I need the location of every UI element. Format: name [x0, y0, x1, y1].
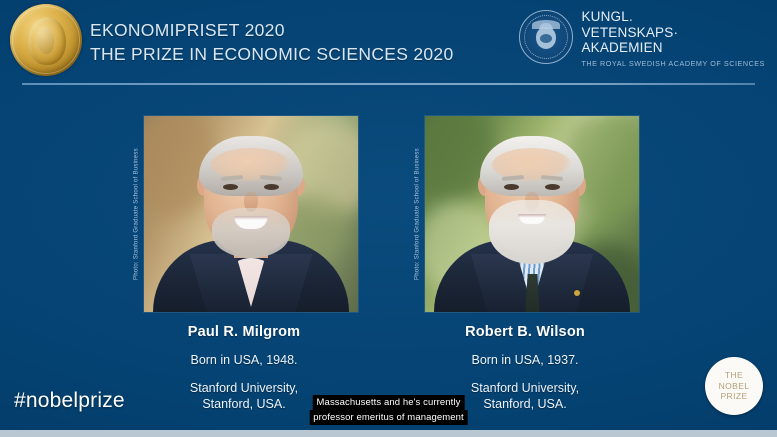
video-scrubber[interactable]	[0, 430, 777, 437]
laureate-card-milgrom: Photo: Stanford Graduate School of Busin…	[130, 116, 358, 412]
portrait-photo-wilson	[425, 116, 639, 312]
header-titles: EKONOMIPRISET 2020 THE PRIZE IN ECONOMIC…	[90, 18, 454, 66]
title-swedish: EKONOMIPRISET 2020	[90, 18, 454, 42]
lapel-pin	[574, 290, 580, 296]
nobel-medal-icon	[10, 4, 82, 76]
nobel-mark-line-1: THE	[725, 370, 743, 381]
nobel-mark-line-3: PRIZE	[720, 391, 747, 402]
laureate-info: Paul R. Milgrom Born in USA, 1948. Stanf…	[130, 312, 358, 412]
academy-logo: KUNGL. VETENSKAPS· AKADEMIEN THE ROYAL S…	[519, 8, 765, 68]
eye-right	[545, 184, 560, 190]
portrait-frame: Photo: Stanford Graduate School of Busin…	[411, 116, 639, 312]
seal-figure	[536, 27, 556, 49]
academy-line-1: KUNGL.	[581, 9, 765, 25]
hair	[199, 136, 303, 196]
academy-line-3: AKADEMIEN	[581, 40, 765, 56]
academy-wordmark: KUNGL. VETENSKAPS· AKADEMIEN THE ROYAL S…	[581, 8, 765, 68]
portrait-photo-milgrom	[144, 116, 358, 312]
portrait-frame: Photo: Stanford Graduate School of Busin…	[130, 116, 358, 312]
affiliation-line-1: Stanford University,	[130, 380, 358, 396]
laureate-affiliation: Stanford University, Stanford, USA.	[411, 380, 639, 412]
academy-line-2: VETENSKAPS·	[581, 25, 765, 41]
title-english: THE PRIZE IN ECONOMIC SCIENCES 2020	[90, 42, 454, 66]
photo-credit: Photo: Stanford Graduate School of Busin…	[411, 116, 424, 312]
laureate-name: Paul R. Milgrom	[130, 324, 358, 340]
broadcast-frame: EKONOMIPRISET 2020 THE PRIZE IN ECONOMIC…	[0, 0, 777, 437]
header: EKONOMIPRISET 2020 THE PRIZE IN ECONOMIC…	[0, 0, 777, 84]
laureate-card-wilson: Photo: Stanford Graduate School of Busin…	[411, 116, 639, 412]
photo-credit: Photo: Stanford Graduate School of Busin…	[130, 116, 143, 312]
eye-right	[264, 184, 279, 190]
laureate-born: Born in USA, 1937.	[411, 353, 639, 367]
laureate-info: Robert B. Wilson Born in USA, 1937. Stan…	[411, 312, 639, 412]
medal-portrait	[28, 17, 66, 65]
affiliation-line-2: Stanford, USA.	[411, 396, 639, 412]
laureate-name: Robert B. Wilson	[411, 324, 639, 340]
beard	[489, 200, 575, 264]
portrait-figure	[425, 116, 639, 312]
header-divider	[22, 83, 755, 85]
laureate-born: Born in USA, 1948.	[130, 353, 358, 367]
hashtag: #nobelprize	[14, 389, 125, 413]
eye-left	[504, 184, 519, 190]
eye-left	[223, 184, 238, 190]
laureate-affiliation: Stanford University, Stanford, USA.	[130, 380, 358, 412]
portrait-figure	[144, 116, 358, 312]
affiliation-line-1: Stanford University,	[411, 380, 639, 396]
affiliation-line-2: Stanford, USA.	[130, 396, 358, 412]
academy-seal-icon	[519, 10, 573, 64]
academy-subtitle: THE ROYAL SWEDISH ACADEMY OF SCIENCES	[581, 59, 765, 68]
hair	[480, 136, 584, 196]
nobel-mark-line-2: NOBEL	[719, 381, 750, 392]
nobel-prize-logo: THE NOBEL PRIZE	[705, 357, 763, 415]
